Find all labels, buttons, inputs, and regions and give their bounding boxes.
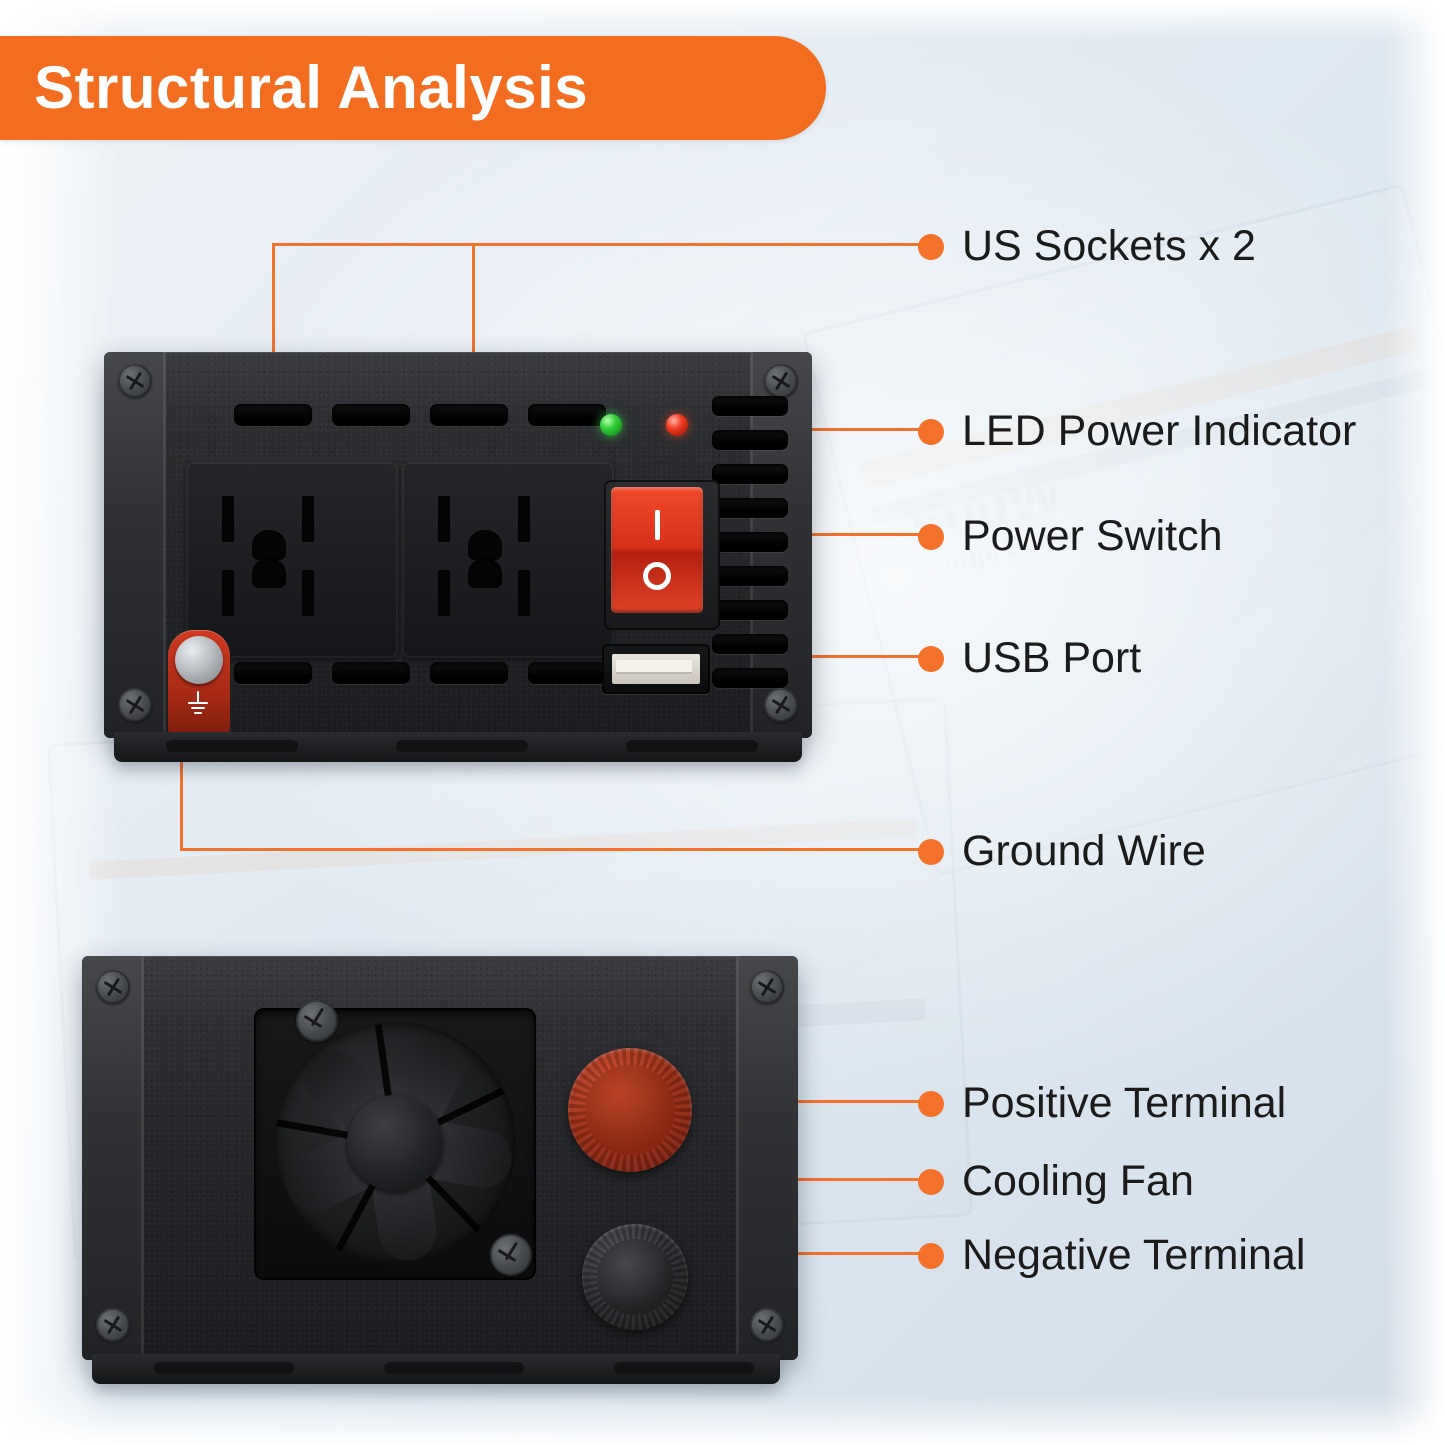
callout-positive-terminal: Positive Terminal — [918, 1082, 1286, 1125]
socket-1b-hot-slot — [302, 570, 314, 616]
power-switch-rocker[interactable] — [611, 487, 703, 613]
rear-base-notch-3 — [614, 1362, 754, 1374]
socket-2-ground-hole — [468, 558, 502, 588]
callout-dot-icon — [918, 524, 944, 550]
callout-power-switch: Power Switch — [918, 515, 1222, 558]
background-fade-top — [0, 0, 1445, 40]
rear-base-notch-1 — [154, 1362, 294, 1374]
screw-bottom-right — [764, 688, 798, 722]
cooling-fan-hub — [347, 1095, 443, 1191]
negative-terminal-cap — [597, 1239, 673, 1315]
cooling-fan-housing — [254, 1008, 536, 1280]
vent-bottom-3 — [430, 662, 508, 684]
callout-dot-icon — [918, 234, 944, 260]
ground-terminal-nut — [175, 636, 223, 684]
usb-port-tab — [616, 660, 692, 672]
negative-terminal[interactable] — [582, 1224, 688, 1330]
callout-dot-icon — [918, 1169, 944, 1195]
page-title: Structural Analysis — [0, 58, 648, 118]
vent-bottom-4 — [528, 662, 606, 684]
callout-label-ground-wire: Ground Wire — [962, 830, 1206, 873]
callout-label-negative-terminal: Negative Terminal — [962, 1234, 1305, 1277]
header-badge: Structural Analysis — [0, 36, 826, 140]
socket-1b-neutral-slot — [222, 570, 234, 616]
callout-dot-icon — [918, 419, 944, 445]
rear-flange-edge-left — [141, 956, 144, 1360]
ground-wire-terminal[interactable] — [164, 630, 234, 738]
power-switch-frame — [604, 480, 720, 630]
callout-cooling-fan: Cooling Fan — [918, 1160, 1194, 1203]
vent-right-1 — [712, 396, 788, 416]
rear-right-flange — [736, 956, 798, 1360]
callout-usb-port: USB Port — [918, 637, 1141, 680]
vent-right-6 — [712, 566, 788, 586]
inverter-rear-panel — [82, 956, 798, 1406]
background-fade-right — [1385, 0, 1445, 1445]
socket-2b-hot-slot — [518, 570, 530, 616]
vent-right-4 — [712, 498, 788, 518]
callout-label-us-sockets: US Sockets x 2 — [962, 225, 1256, 268]
callout-led-indicator: LED Power Indicator — [918, 410, 1356, 453]
leader-line-sockets-horizontal — [272, 243, 922, 246]
rear-flange-edge-right — [736, 956, 739, 1360]
screw-top-right — [764, 364, 798, 398]
callout-dot-icon — [918, 1243, 944, 1269]
switch-on-mark — [655, 510, 660, 540]
front-case-base — [114, 732, 802, 762]
callout-dot-icon — [918, 839, 944, 865]
leader-line-ground-horizontal — [180, 848, 922, 851]
screw-bottom-left — [118, 688, 152, 722]
vent-right-7 — [712, 600, 788, 620]
rear-left-flange — [82, 956, 144, 1360]
switch-off-mark — [643, 562, 671, 590]
vent-top-1 — [234, 404, 312, 426]
socket-1-neutral-slot — [222, 496, 234, 542]
rear-screw-bottom-right — [750, 1308, 784, 1342]
left-mounting-flange — [104, 352, 166, 738]
positive-terminal-cap — [585, 1065, 674, 1154]
led-power-red — [666, 414, 688, 436]
fan-screw-bottom — [490, 1234, 532, 1276]
vent-right-3 — [712, 464, 788, 484]
vent-bottom-1 — [234, 662, 312, 684]
usb-port[interactable] — [602, 644, 710, 694]
callout-dot-icon — [918, 1091, 944, 1117]
vent-bottom-2 — [332, 662, 410, 684]
socket-2-neutral-slot — [438, 496, 450, 542]
base-notch-3 — [626, 740, 758, 752]
base-notch-2 — [396, 740, 528, 752]
ground-symbol-icon — [186, 690, 210, 716]
callout-us-sockets: US Sockets x 2 — [918, 225, 1256, 268]
socket-1-hot-slot — [302, 496, 314, 542]
socket-2b-ground-hole — [468, 530, 502, 560]
rear-screw-top-right — [750, 970, 784, 1004]
inverter-front-panel — [104, 352, 812, 772]
screw-top-left — [118, 364, 152, 398]
callout-label-power-switch: Power Switch — [962, 515, 1222, 558]
positive-terminal[interactable] — [568, 1048, 692, 1172]
vent-right-8 — [712, 634, 788, 654]
infographic-canvas: 500W Surge Power Structural Analysis — [0, 0, 1445, 1445]
callout-ground-wire: Ground Wire — [918, 830, 1206, 873]
rear-screw-top-left — [96, 970, 130, 1004]
callout-label-usb-port: USB Port — [962, 637, 1141, 680]
rear-case-base — [92, 1354, 780, 1384]
socket-2-hot-slot — [518, 496, 530, 542]
cooling-fan-ring — [274, 1022, 516, 1264]
us-socket-1[interactable] — [186, 462, 398, 658]
vent-top-4 — [528, 404, 606, 426]
rear-base-notch-2 — [384, 1362, 524, 1374]
callout-label-positive-terminal: Positive Terminal — [962, 1082, 1286, 1125]
led-power-green — [600, 414, 622, 436]
vent-right-2 — [712, 430, 788, 450]
socket-2b-neutral-slot — [438, 570, 450, 616]
us-socket-2[interactable] — [402, 462, 614, 658]
vent-top-3 — [430, 404, 508, 426]
vent-right-9 — [712, 668, 788, 688]
base-notch-1 — [166, 740, 298, 752]
socket-1b-ground-hole — [252, 530, 286, 560]
callout-label-cooling-fan: Cooling Fan — [962, 1160, 1194, 1203]
socket-1-ground-hole — [252, 558, 286, 588]
rear-screw-bottom-left — [96, 1308, 130, 1342]
callout-label-led-indicator: LED Power Indicator — [962, 410, 1356, 453]
vent-top-2 — [332, 404, 410, 426]
fan-screw-top — [296, 1000, 338, 1042]
vent-right-5 — [712, 532, 788, 552]
callout-negative-terminal: Negative Terminal — [918, 1234, 1305, 1277]
callout-dot-icon — [918, 646, 944, 672]
